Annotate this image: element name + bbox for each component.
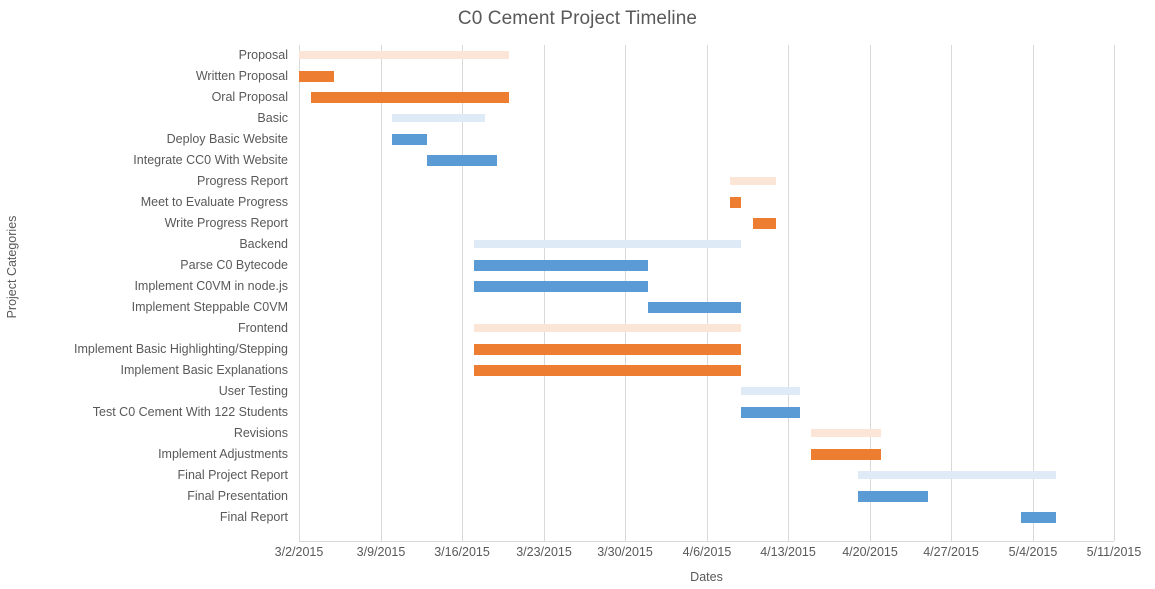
gantt-row xyxy=(299,276,1114,297)
category-label: User Testing xyxy=(0,381,288,402)
gantt-bar[interactable] xyxy=(858,491,928,502)
gantt-chart: C0 Cement Project Timeline Project Categ… xyxy=(0,0,1155,589)
category-label-list: ProposalWritten ProposalOral ProposalBas… xyxy=(0,45,288,541)
plot-area xyxy=(299,45,1114,541)
category-label: Final Presentation xyxy=(0,486,288,507)
gantt-bar[interactable] xyxy=(1021,512,1056,523)
gantt-bar[interactable] xyxy=(648,302,741,313)
gantt-bar[interactable] xyxy=(392,134,427,145)
x-axis-line xyxy=(299,541,1114,542)
gantt-row xyxy=(299,486,1114,507)
category-label: Oral Proposal xyxy=(0,87,288,108)
gantt-row xyxy=(299,297,1114,318)
gantt-row xyxy=(299,402,1114,423)
category-label: Progress Report xyxy=(0,171,288,192)
gridline xyxy=(1114,45,1115,541)
gantt-bar[interactable] xyxy=(741,407,799,418)
x-axis-tick: 5/11/2015 xyxy=(1087,545,1142,559)
gantt-bar[interactable] xyxy=(811,429,881,437)
gantt-row xyxy=(299,507,1114,528)
gantt-bar[interactable] xyxy=(858,471,1056,479)
x-axis-tick: 3/16/2015 xyxy=(434,545,490,559)
gantt-row xyxy=(299,192,1114,213)
gantt-row xyxy=(299,255,1114,276)
category-label: Backend xyxy=(0,234,288,255)
gantt-bar[interactable] xyxy=(427,155,497,166)
category-label: Meet to Evaluate Progress xyxy=(0,192,288,213)
category-label: Written Proposal xyxy=(0,66,288,87)
x-axis-tick: 4/6/2015 xyxy=(683,545,732,559)
x-axis-tick: 5/4/2015 xyxy=(1009,545,1058,559)
category-label: Final Report xyxy=(0,507,288,528)
category-label: Implement Adjustments xyxy=(0,444,288,465)
gantt-bar[interactable] xyxy=(299,51,509,59)
gantt-bar[interactable] xyxy=(474,324,742,332)
gantt-row xyxy=(299,213,1114,234)
category-label: Integrate CC0 With Website xyxy=(0,150,288,171)
x-axis-title: Dates xyxy=(299,570,1114,584)
gantt-bar[interactable] xyxy=(730,197,742,208)
x-axis-tick: 3/30/2015 xyxy=(597,545,653,559)
gantt-row xyxy=(299,87,1114,108)
x-axis-tick: 3/23/2015 xyxy=(516,545,572,559)
category-label: Write Progress Report xyxy=(0,213,288,234)
gantt-bar[interactable] xyxy=(474,260,649,271)
gantt-row xyxy=(299,444,1114,465)
gantt-row xyxy=(299,360,1114,381)
x-axis-tick-list: 3/2/20153/9/20153/16/20153/23/20153/30/2… xyxy=(299,545,1114,565)
gantt-bar[interactable] xyxy=(753,218,776,229)
gantt-bar[interactable] xyxy=(811,449,881,460)
gantt-row xyxy=(299,465,1114,486)
x-axis-tick: 4/27/2015 xyxy=(923,545,979,559)
gantt-bar[interactable] xyxy=(392,114,485,122)
category-label: Final Project Report xyxy=(0,465,288,486)
x-axis-tick: 4/13/2015 xyxy=(760,545,816,559)
gantt-bar[interactable] xyxy=(474,365,742,376)
gantt-bar[interactable] xyxy=(741,387,799,395)
gantt-bar[interactable] xyxy=(730,177,777,185)
category-label: Deploy Basic Website xyxy=(0,129,288,150)
category-label: Basic xyxy=(0,108,288,129)
gantt-row xyxy=(299,423,1114,444)
category-label: Implement Basic Highlighting/Stepping xyxy=(0,339,288,360)
gantt-bar[interactable] xyxy=(299,71,334,82)
gantt-row xyxy=(299,129,1114,150)
category-label: Implement C0VM in node.js xyxy=(0,276,288,297)
gantt-row xyxy=(299,318,1114,339)
gantt-bar[interactable] xyxy=(311,92,509,103)
category-label: Revisions xyxy=(0,423,288,444)
x-axis-tick: 3/9/2015 xyxy=(357,545,406,559)
x-axis-tick: 3/2/2015 xyxy=(275,545,324,559)
x-axis-tick: 4/20/2015 xyxy=(842,545,898,559)
chart-title: C0 Cement Project Timeline xyxy=(0,8,1155,30)
category-label: Proposal xyxy=(0,45,288,66)
category-label: Parse C0 Bytecode xyxy=(0,255,288,276)
category-label: Implement Steppable C0VM xyxy=(0,297,288,318)
gantt-row xyxy=(299,45,1114,66)
gantt-row xyxy=(299,150,1114,171)
gantt-row xyxy=(299,381,1114,402)
gantt-row xyxy=(299,171,1114,192)
gantt-row xyxy=(299,108,1114,129)
gantt-row xyxy=(299,66,1114,87)
gantt-bar[interactable] xyxy=(474,344,742,355)
gantt-row xyxy=(299,339,1114,360)
gantt-bar[interactable] xyxy=(474,240,742,248)
category-label: Test C0 Cement With 122 Students xyxy=(0,402,288,423)
gantt-bar[interactable] xyxy=(474,281,649,292)
category-label: Implement Basic Explanations xyxy=(0,360,288,381)
category-label: Frontend xyxy=(0,318,288,339)
gantt-row xyxy=(299,234,1114,255)
